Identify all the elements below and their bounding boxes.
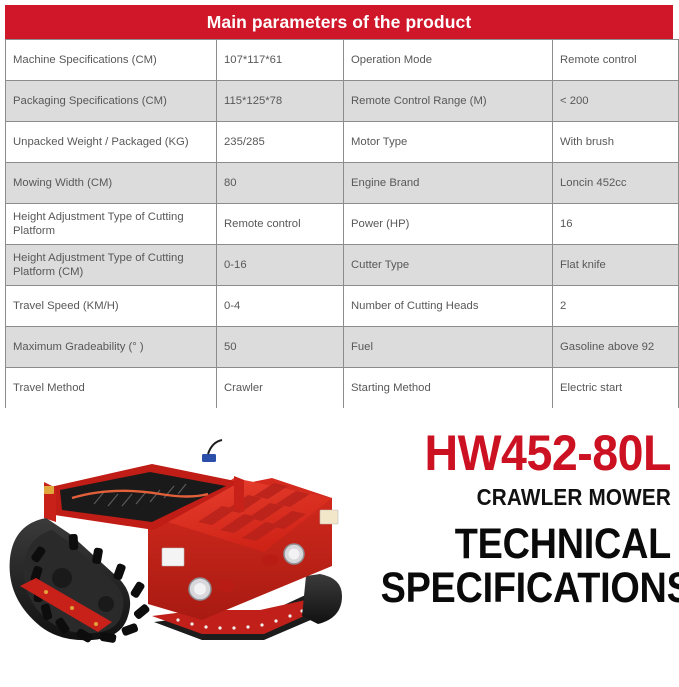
- spec-label-cell: Height Adjustment Type of Cutting Platfo…: [6, 204, 217, 245]
- spec-value-cell: Gasoline above 92: [553, 327, 679, 368]
- product-photo: [2, 426, 370, 676]
- body-recess-left: [217, 580, 235, 592]
- hero-text-block: HW452-80L CRAWLER MOWER TECHNICAL SPECIF…: [341, 430, 671, 611]
- table-banner: Main parameters of the product: [5, 5, 673, 39]
- spec-table-body: Machine Specifications (CM) 107*117*61 O…: [6, 40, 679, 409]
- spec-value-cell: 16: [553, 204, 679, 245]
- spec-value-cell: Crawler: [217, 368, 344, 409]
- body-recess-right: [262, 555, 278, 566]
- warning-label-front: [162, 548, 184, 566]
- spec-label-cell: Height Adjustment Type of Cutting Platfo…: [6, 245, 217, 286]
- spec-value-cell: With brush: [553, 122, 679, 163]
- spec-value-cell: 50: [217, 327, 344, 368]
- spec-label-cell: Travel Method: [6, 368, 217, 409]
- headline-line-2: SPECIFICATIONS: [381, 567, 671, 611]
- spec-label-cell: Fuel: [344, 327, 553, 368]
- spec-label-cell: Unpacked Weight / Packaged (KG): [6, 122, 217, 163]
- track-roller: [98, 596, 114, 612]
- spec-value-cell: 115*125*78: [217, 81, 344, 122]
- spec-value-cell: Flat knife: [553, 245, 679, 286]
- spec-value-cell: 80: [217, 163, 344, 204]
- spec-value-cell: Loncin 452cc: [553, 163, 679, 204]
- spec-value-cell: 0-16: [217, 245, 344, 286]
- spec-value-cell: Remote control: [553, 40, 679, 81]
- spec-value-cell: 235/285: [217, 122, 344, 163]
- spec-label-cell: Starting Method: [344, 368, 553, 409]
- product-spec-sheet: Main parameters of the product Machine S…: [0, 0, 679, 687]
- antenna: [208, 440, 222, 454]
- caution-tag: [44, 486, 54, 494]
- receiver-box: [202, 454, 216, 462]
- table-row: Machine Specifications (CM) 107*117*61 O…: [6, 40, 679, 81]
- spec-value-cell: Remote control: [217, 204, 344, 245]
- warning-label-rear: [320, 510, 338, 524]
- spec-table-section: Main parameters of the product Machine S…: [0, 0, 679, 409]
- table-row: Unpacked Weight / Packaged (KG) 235/285 …: [6, 122, 679, 163]
- spec-label-cell: Machine Specifications (CM): [6, 40, 217, 81]
- spec-label-cell: Motor Type: [344, 122, 553, 163]
- product-subtitle: CRAWLER MOWER: [374, 486, 671, 509]
- spec-value-cell: 2: [553, 286, 679, 327]
- track-idler: [52, 568, 72, 588]
- crawler-mower-illustration: [2, 426, 370, 676]
- spec-label-cell: Travel Speed (KM/H): [6, 286, 217, 327]
- rear-track: [302, 574, 342, 624]
- spec-label-cell: Power (HP): [344, 204, 553, 245]
- table-banner-title: Main parameters of the product: [207, 12, 472, 33]
- table-row: Height Adjustment Type of Cutting Platfo…: [6, 204, 679, 245]
- spec-label-cell: Packaging Specifications (CM): [6, 81, 217, 122]
- table-row: Travel Speed (KM/H) 0-4 Number of Cuttin…: [6, 286, 679, 327]
- spec-value-cell: Electric start: [553, 368, 679, 409]
- spec-label-cell: Mowing Width (CM): [6, 163, 217, 204]
- spec-label-cell: Operation Mode: [344, 40, 553, 81]
- spec-label-cell: Number of Cutting Heads: [344, 286, 553, 327]
- table-row: Travel Method Crawler Starting Method El…: [6, 368, 679, 409]
- spec-label-cell: Maximum Gradeability (° ): [6, 327, 217, 368]
- product-model-title: HW452-80L: [364, 430, 671, 476]
- spec-value-cell: < 200: [553, 81, 679, 122]
- headline-line-1: TECHNICAL: [455, 520, 671, 568]
- spec-value-cell: 0-4: [217, 286, 344, 327]
- table-row: Height Adjustment Type of Cutting Platfo…: [6, 245, 679, 286]
- specifications-table: Machine Specifications (CM) 107*117*61 O…: [5, 39, 679, 409]
- hero-section: HW452-80L CRAWLER MOWER TECHNICAL SPECIF…: [0, 408, 679, 687]
- spec-label-cell: Cutter Type: [344, 245, 553, 286]
- right-post: [234, 476, 244, 512]
- table-row: Maximum Gradeability (° ) 50 Fuel Gasoli…: [6, 327, 679, 368]
- spec-value-cell: 107*117*61: [217, 40, 344, 81]
- table-row: Packaging Specifications (CM) 115*125*78…: [6, 81, 679, 122]
- spec-label-cell: Engine Brand: [344, 163, 553, 204]
- headline-block: TECHNICAL SPECIFICATIONS: [381, 523, 671, 611]
- spec-label-cell: Remote Control Range (M): [344, 81, 553, 122]
- table-row: Mowing Width (CM) 80 Engine Brand Loncin…: [6, 163, 679, 204]
